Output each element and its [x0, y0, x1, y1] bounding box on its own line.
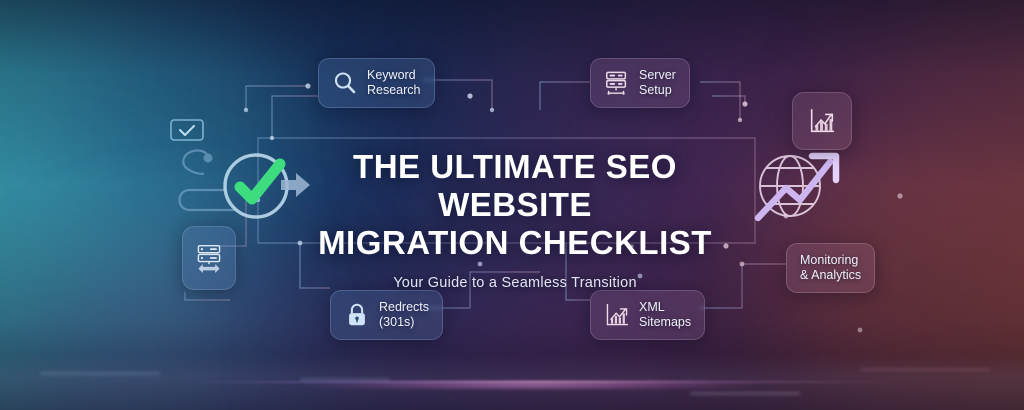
node-monitoring-analytics[interactable]: Monitoring & Analytics [786, 243, 875, 293]
title-block: THE ULTIMATE SEO WEBSITE MIGRATION CHECK… [300, 148, 730, 291]
chart-bars-icon [604, 302, 630, 328]
title-line-1: THE ULTIMATE SEO WEBSITE [353, 148, 677, 223]
node-redirects[interactable]: Redrects (301s) [330, 290, 443, 340]
node-keyword-research[interactable]: Keyword Research [318, 58, 435, 108]
node-label: Keyword Research [367, 68, 421, 98]
growth-chart-icon [807, 106, 837, 136]
page-subtitle: Your Guide to a Seamless Transition [300, 275, 730, 291]
page-title: THE ULTIMATE SEO WEBSITE MIGRATION CHECK… [300, 148, 730, 262]
node-label: XML Sitemaps [639, 300, 691, 330]
lock-icon [344, 302, 370, 328]
checkbox-icon [170, 119, 204, 146]
globe-arrow-icon [748, 142, 844, 231]
node-xml-sitemaps[interactable]: XML Sitemaps [590, 290, 705, 340]
title-line-2: MIGRATION CHECKLIST [300, 224, 730, 262]
node-label: Server Setup [639, 68, 676, 98]
node-label: Monitoring & Analytics [800, 253, 861, 283]
growth-chart-tile[interactable] [792, 92, 852, 150]
node-server-setup[interactable]: Server Setup [590, 58, 690, 108]
server-rack-icon [604, 70, 630, 96]
node-label: Redrects (301s) [379, 300, 429, 330]
data-migration-tile[interactable] [182, 226, 236, 290]
magnifier-icon [332, 70, 358, 96]
server-transfer-icon [194, 243, 224, 273]
seo-migration-banner: Keyword Research Server Setup Redrec [0, 0, 1024, 410]
